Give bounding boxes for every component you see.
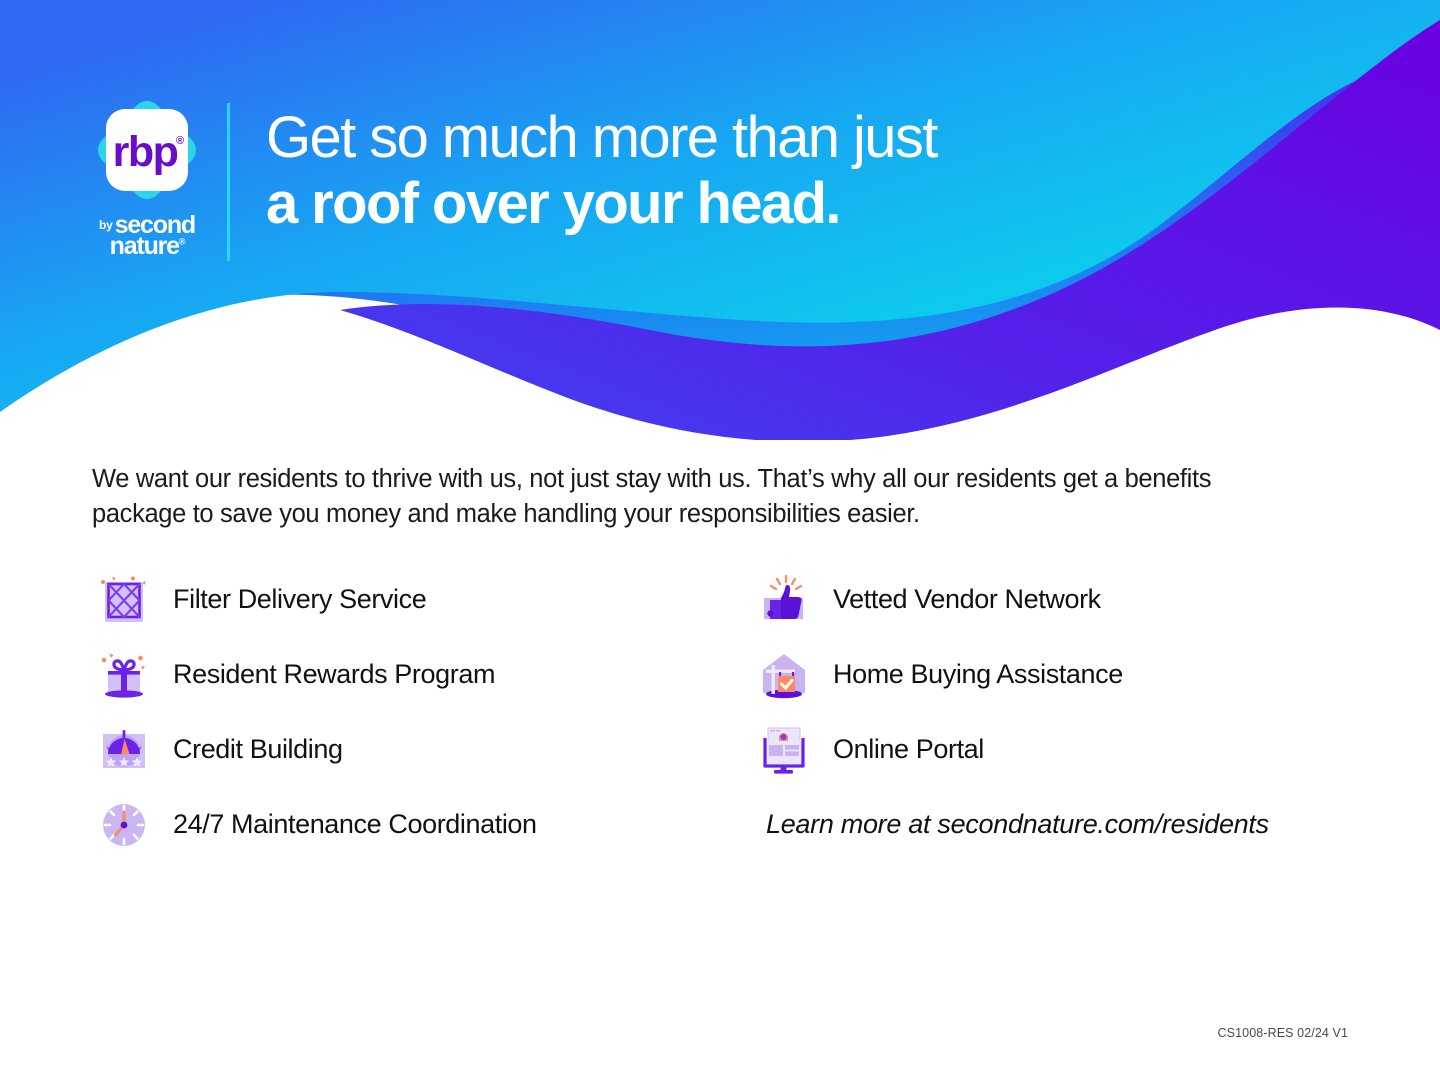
benefit-item-vetted-vendor-network: Vetted Vendor Network <box>752 562 1362 637</box>
benefit-label: 24/7 Maintenance Coordination <box>173 809 537 840</box>
filter-icon <box>92 572 156 628</box>
headline-line-1: Get so much more than just <box>266 108 937 168</box>
brand-logo: rbp ® bysecond nature® <box>88 96 208 261</box>
benefit-label: Vetted Vendor Network <box>833 584 1101 615</box>
svg-text:rbp: rbp <box>113 128 178 176</box>
credit-gauge-icon <box>92 722 156 778</box>
thumbs-up-icon <box>752 572 816 628</box>
benefits-right-column: Vetted Vendor Network Home Buying Assist… <box>752 562 1362 862</box>
benefits-section: Filter Delivery Service Resident Rewards <box>92 562 1362 862</box>
hero-headline: Get so much more than just a roof over y… <box>266 108 937 235</box>
benefit-label: Home Buying Assistance <box>833 659 1123 690</box>
gift-icon <box>92 647 156 703</box>
logo-byline: bysecond nature® <box>88 214 206 258</box>
clock-icon <box>92 797 156 853</box>
benefit-label: Filter Delivery Service <box>173 584 426 615</box>
rbp-badge-icon: rbp ® <box>88 96 206 208</box>
benefit-item-credit-building: Credit Building <box>92 712 752 787</box>
house-sign-icon <box>752 647 816 703</box>
document-code: CS1008-RES 02/24 V1 <box>1218 1026 1348 1040</box>
benefit-item-resident-rewards-program: Resident Rewards Program <box>92 637 752 712</box>
benefit-label: Credit Building <box>173 734 343 765</box>
benefit-label: Resident Rewards Program <box>173 659 495 690</box>
logo-divider <box>227 103 230 261</box>
monitor-icon <box>752 722 816 778</box>
benefit-label: Online Portal <box>833 734 984 765</box>
headline-line-2: a roof over your head. <box>266 174 937 234</box>
hero-banner: rbp ® bysecond nature® Get so much more … <box>0 0 1440 440</box>
benefit-item-maintenance-coordination: 24/7 Maintenance Coordination <box>92 787 752 862</box>
benefit-item-home-buying-assistance: Home Buying Assistance <box>752 637 1362 712</box>
benefit-item-online-portal: Online Portal <box>752 712 1362 787</box>
benefit-item-filter-delivery-service: Filter Delivery Service <box>92 562 752 637</box>
svg-text:®: ® <box>176 135 184 147</box>
learn-more-text: Learn more at secondnature.com/residents <box>766 809 1362 840</box>
intro-paragraph: We want our residents to thrive with us,… <box>92 462 1307 531</box>
logo-byline-by: by <box>99 220 113 231</box>
rbp-logo-mark: rbp ® <box>88 96 206 208</box>
benefits-left-column: Filter Delivery Service Resident Rewards <box>92 562 752 862</box>
